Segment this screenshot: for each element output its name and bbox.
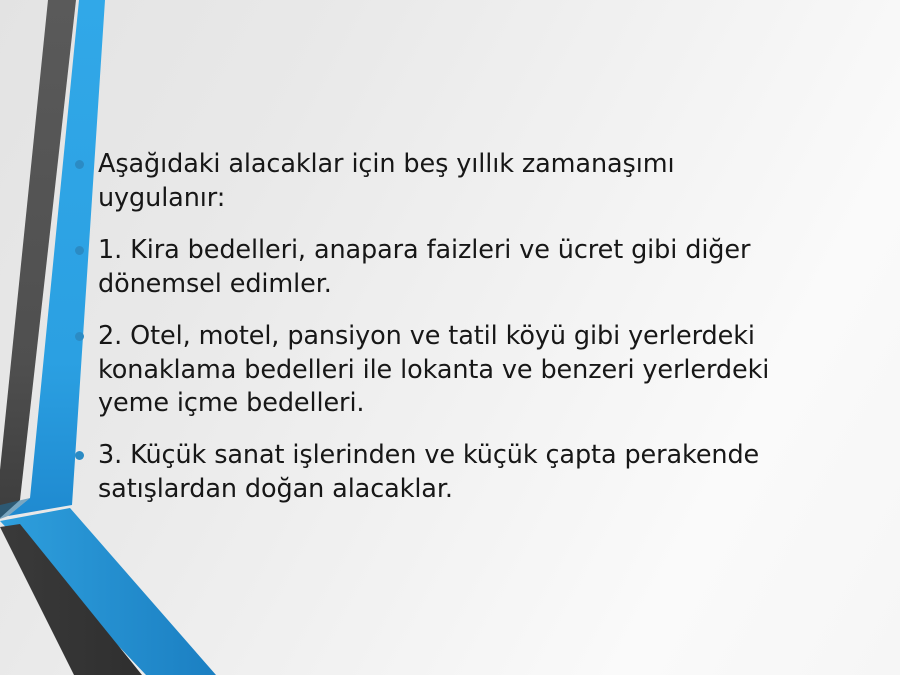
stripe-blue-lower (0, 508, 216, 675)
bullet-dot-icon (75, 332, 84, 341)
bullet-text: 2. Otel, motel, pansiyon ve tatil köyü g… (98, 320, 798, 422)
stripe-gray-lower (0, 524, 142, 675)
list-item: Aşağıdaki alacaklar için beş yıllık zama… (68, 148, 798, 216)
presentation-slide: Aşağıdaki alacaklar için beş yıllık zama… (0, 0, 900, 675)
fold-shadow (0, 498, 30, 519)
bullet-list: Aşağıdaki alacaklar için beş yıllık zama… (68, 148, 858, 507)
bullet-text: 3. Küçük sanat işlerinden ve küçük çapta… (98, 439, 798, 507)
slide-content-body: Aşağıdaki alacaklar için beş yıllık zama… (68, 148, 858, 507)
bullet-dot-icon (75, 160, 84, 169)
stripe-gray-upper (0, 0, 76, 518)
list-item: 2. Otel, motel, pansiyon ve tatil köyü g… (68, 320, 798, 422)
list-item: 3. Küçük sanat işlerinden ve küçük çapta… (68, 439, 798, 507)
list-item: 1. Kira bedelleri, anapara faizleri ve ü… (68, 234, 798, 302)
bullet-text: 1. Kira bedelleri, anapara faizleri ve ü… (98, 234, 798, 302)
bullet-dot-icon (75, 451, 84, 460)
bullet-dot-icon (75, 246, 84, 255)
bullet-text: Aşağıdaki alacaklar için beş yıllık zama… (98, 148, 798, 216)
